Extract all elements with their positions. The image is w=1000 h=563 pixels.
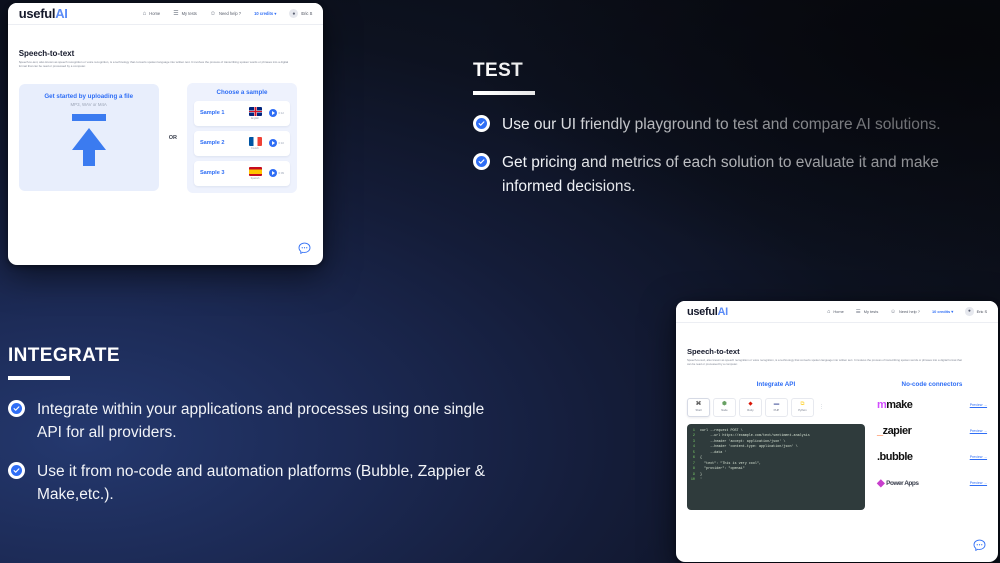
playground-row: Get started by uploading a file MP3, WAV… (19, 83, 313, 193)
or-label: OR (169, 135, 177, 141)
upload-arrow-icon (67, 114, 111, 164)
tab-shell[interactable]: ⌘ Shell (687, 398, 710, 417)
help-icon: ☺ (890, 309, 896, 315)
app-nav: ⌂ Home ☰ My tests ☺ Need help ? 10 credi… (143, 9, 313, 18)
tab-ruby[interactable]: ◆ Ruby (739, 398, 762, 417)
line-code: --data ' (700, 451, 726, 457)
language-tabs: ⌘ Shell ⬢ Node ◆ Ruby ▬ (687, 398, 865, 417)
slide-background: usefulAI ⌂ Home ☰ My tests ☺ Need help ?… (0, 0, 1000, 563)
list-item: Use our UI friendly playground to test a… (473, 113, 993, 136)
sample-panel: Choose a sample Sample 1 English 0:12 Sa… (187, 83, 297, 193)
avatar: ● (965, 307, 974, 316)
play-button[interactable] (269, 169, 277, 177)
credits-dropdown[interactable]: 10 credits ▾ (254, 11, 276, 16)
sample-name: Sample 3 (200, 170, 225, 176)
connector-row-zapier[interactable]: _zapier Preview → (877, 423, 987, 440)
app-logo[interactable]: usefulAI (19, 6, 68, 21)
upload-dropzone[interactable]: Get started by uploading a file MP3, WAV… (19, 84, 159, 191)
sample-name: Sample 1 (200, 110, 225, 116)
bullet-text: Get pricing and metrics of each solution… (502, 151, 993, 198)
connector-row-bubble[interactable]: .bubble Preview → (877, 449, 987, 466)
preview-link[interactable]: Preview → (970, 403, 987, 407)
sample-language: Spanish (251, 177, 260, 180)
tab-node[interactable]: ⬢ Node (713, 398, 736, 417)
upload-subtitle: MP3, WAV or M4A (71, 102, 107, 107)
code-block[interactable]: 1curl --request POST \ 2 --url https://e… (687, 424, 865, 510)
tests-icon: ☰ (856, 309, 861, 315)
test-section: TEST Use our UI friendly playground to t… (473, 60, 993, 213)
app-topbar: usefulAI ⌂ Home ☰ My tests ☺ Need help ?… (8, 3, 323, 25)
preview-link[interactable]: Preview → (970, 429, 987, 433)
tab-label-ruby: Ruby (747, 409, 753, 412)
page-title: Speech-to-text (687, 347, 987, 356)
node-icon: ⬢ (722, 402, 727, 408)
chat-bubble-icon[interactable] (972, 538, 987, 553)
user-menu[interactable]: ● Eric S (289, 9, 312, 18)
nav-label-home: Home (833, 309, 843, 314)
code-line: 10' (687, 478, 865, 484)
integrate-api-heading: Integrate API (687, 381, 865, 388)
test-heading: TEST (473, 60, 993, 82)
app-nav: ⌂ Home ☰ My tests ☺ Need help ? 10 credi… (827, 307, 987, 316)
flag-fr-icon: French (249, 137, 262, 150)
integrate-section: INTEGRATE Integrate within your applicat… (8, 345, 508, 521)
line-number: 10 (687, 478, 700, 484)
check-icon (473, 115, 490, 132)
sample-duration: 0:12 (279, 111, 284, 115)
test-bullet-list: Use our UI friendly playground to test a… (473, 113, 993, 198)
integrate-columns: Integrate API ⌘ Shell ⬢ Node ◆ Ruby (687, 381, 987, 510)
app-logo[interactable]: usefulAI (687, 306, 728, 318)
check-icon (8, 462, 25, 479)
logo-text-accent: AI (55, 6, 67, 21)
sample-duration: 0:10 (279, 141, 284, 145)
nav-label-my-tests: My tests (864, 309, 878, 314)
shell-icon: ⌘ (696, 402, 702, 408)
connector-name: zapier (883, 425, 912, 437)
nav-label-need-help: Need help ? (899, 309, 920, 314)
logo-text-main: useful (687, 306, 718, 318)
nav-item-my-tests[interactable]: ☰ My tests (856, 309, 879, 315)
app-topbar: usefulAI ⌂ Home ☰ My tests ☺ Need help ?… (676, 301, 998, 323)
page-description: Speech-to-text, also known as speech rec… (687, 359, 967, 367)
connector-row-power-apps[interactable]: ◆Power Apps Preview → (877, 475, 987, 492)
line-code: "provider": "openai" (700, 467, 745, 473)
list-item[interactable]: Sample 3 Spanish 0:09 (194, 161, 290, 186)
connector-name: bubble (880, 451, 913, 463)
php-icon: ▬ (774, 402, 780, 408)
sample-duration: 0:09 (279, 171, 284, 175)
nav-label-need-help: Need help ? (219, 11, 241, 16)
preview-link[interactable]: Preview → (970, 455, 987, 459)
app-window-integrate: usefulAI ⌂ Home ☰ My tests ☺ Need help ?… (676, 301, 998, 562)
list-item[interactable]: Sample 1 English 0:12 (194, 101, 290, 126)
tests-icon: ☰ (173, 10, 178, 17)
power-apps-logo: ◆Power Apps (877, 478, 919, 489)
check-icon (8, 400, 25, 417)
tab-php[interactable]: ▬ PHP (765, 398, 788, 417)
sample-panel-title: Choose a sample (194, 89, 290, 96)
power-apps-mark-icon: ◆ (877, 478, 884, 489)
chat-bubble-icon[interactable] (297, 241, 312, 256)
credits-dropdown[interactable]: 10 credits ▾ (932, 309, 953, 314)
user-name: Eric S (977, 309, 987, 314)
integrate-heading: INTEGRATE (8, 345, 508, 367)
bubble-logo: .bubble (877, 451, 913, 463)
tab-python[interactable]: ⧉ Python (791, 398, 814, 417)
list-item: Use it from no-code and automation platf… (8, 460, 508, 507)
flag-es-icon: Spanish (249, 167, 262, 180)
bullet-text: Integrate within your applications and p… (37, 398, 508, 445)
nav-item-home[interactable]: ⌂ Home (827, 309, 844, 315)
play-button[interactable] (269, 139, 277, 147)
connector-name: make (886, 399, 912, 411)
preview-link[interactable]: Preview → (970, 481, 987, 485)
avatar: ● (289, 9, 298, 18)
tab-label-node: Node (721, 409, 727, 412)
nav-item-need-help[interactable]: ☺ Need help ? (210, 11, 241, 17)
sample-name: Sample 2 (200, 140, 225, 146)
check-icon (473, 153, 490, 170)
sample-language: English (251, 117, 259, 120)
nav-item-home[interactable]: ⌂ Home (143, 11, 161, 17)
make-mark-icon: m (877, 399, 886, 411)
nav-label-my-tests: My tests (182, 11, 197, 16)
play-button[interactable] (269, 109, 277, 117)
home-icon: ⌂ (143, 11, 147, 17)
tab-label-python: Python (798, 409, 806, 412)
integrate-bullet-list: Integrate within your applications and p… (8, 398, 508, 506)
connector-name: Power Apps (886, 480, 918, 487)
logo-text-accent: AI (718, 306, 728, 318)
zapier-logo: _zapier (877, 425, 911, 437)
no-code-connectors-column: No-code connectors mmake Preview → _zapi… (877, 381, 987, 510)
connector-row-make[interactable]: mmake Preview → (877, 397, 987, 414)
user-name: Eric S (301, 11, 312, 16)
page-description: Speech-to-text, also known as speech rec… (19, 61, 297, 69)
ruby-icon: ◆ (748, 402, 752, 408)
tab-overflow-icon[interactable]: ⋮ (817, 404, 824, 410)
app-window-playground: usefulAI ⌂ Home ☰ My tests ☺ Need help ?… (8, 3, 323, 265)
nav-item-need-help[interactable]: ☺ Need help ? (890, 309, 920, 315)
list-item: Integrate within your applications and p… (8, 398, 508, 445)
playground-body: Speech-to-text Speech-to-text, also know… (8, 49, 323, 193)
python-icon: ⧉ (800, 402, 804, 408)
user-menu[interactable]: ● Eric S (965, 307, 987, 316)
home-icon: ⌂ (827, 309, 830, 315)
integrate-body: Speech-to-text Speech-to-text, also know… (676, 347, 998, 510)
bullet-text: Use our UI friendly playground to test a… (502, 113, 941, 136)
list-item: Get pricing and metrics of each solution… (473, 151, 993, 198)
heading-underline (8, 376, 70, 380)
sample-language: French (251, 147, 258, 150)
nav-item-my-tests[interactable]: ☰ My tests (173, 10, 197, 17)
logo-text-main: useful (19, 6, 55, 21)
list-item[interactable]: Sample 2 French 0:10 (194, 131, 290, 156)
page-title: Speech-to-text (19, 49, 313, 58)
integrate-api-column: Integrate API ⌘ Shell ⬢ Node ◆ Ruby (687, 381, 865, 510)
line-code: ' (700, 478, 702, 484)
tab-label-php: PHP (774, 409, 780, 412)
tab-label-shell: Shell (695, 409, 701, 412)
make-logo: mmake (877, 399, 912, 411)
connectors-heading: No-code connectors (877, 381, 987, 388)
nav-label-home: Home (149, 11, 160, 16)
heading-underline (473, 91, 535, 95)
bullet-text: Use it from no-code and automation platf… (37, 460, 508, 507)
flag-uk-icon: English (249, 107, 262, 120)
help-icon: ☺ (210, 11, 216, 17)
upload-title: Get started by uploading a file (44, 93, 133, 100)
